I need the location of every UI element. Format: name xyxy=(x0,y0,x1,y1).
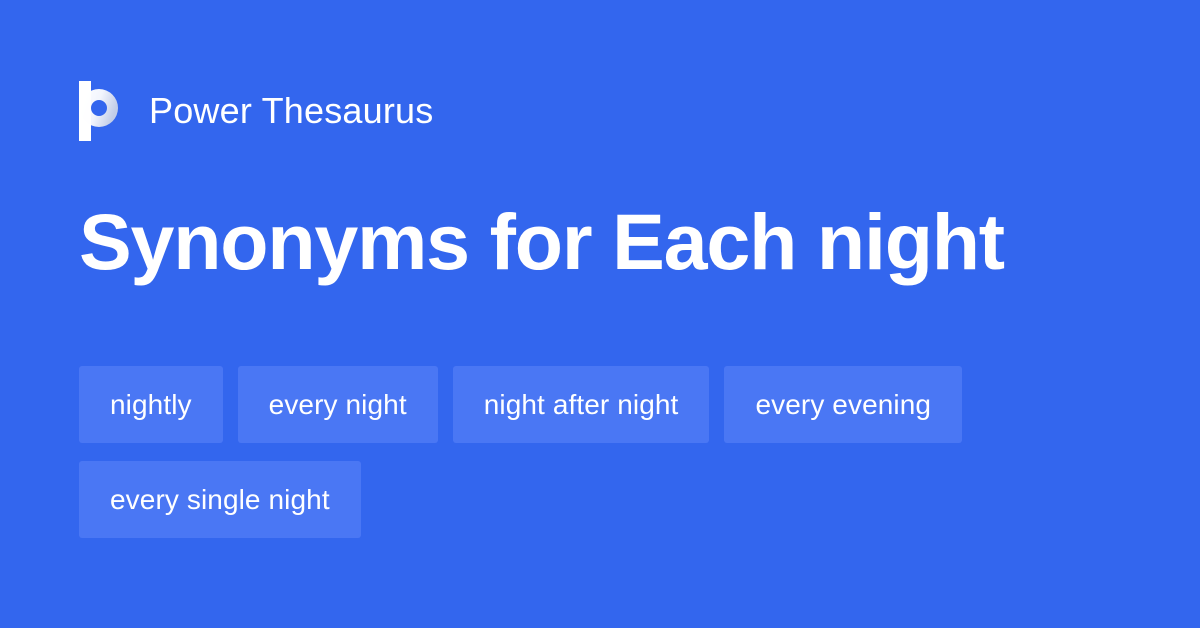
synonym-chip[interactable]: every single night xyxy=(79,461,361,538)
page-title: Synonyms for Each night xyxy=(79,196,1004,288)
synonym-chip[interactable]: night after night xyxy=(453,366,710,443)
page-root: Power Thesaurus Synonyms for Each night … xyxy=(0,0,1200,628)
synonym-chip[interactable]: nightly xyxy=(79,366,223,443)
brand-logo[interactable]: Power Thesaurus xyxy=(79,80,433,142)
synonym-chip[interactable]: every night xyxy=(238,366,438,443)
synonym-chip[interactable]: every evening xyxy=(724,366,962,443)
power-thesaurus-b-logo-icon xyxy=(79,81,127,141)
synonym-chip-list: nightly every night night after night ev… xyxy=(79,366,1139,538)
brand-name-label: Power Thesaurus xyxy=(149,93,433,129)
